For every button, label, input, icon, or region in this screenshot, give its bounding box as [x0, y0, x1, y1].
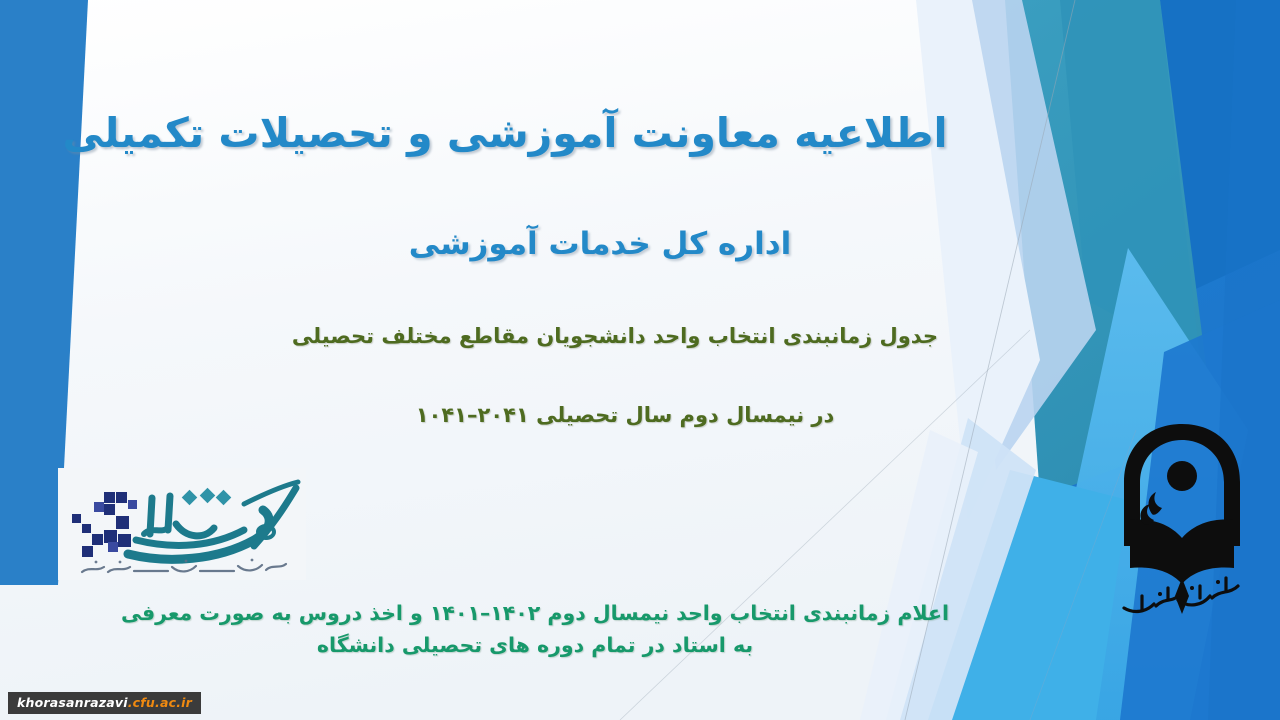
footer-announcement: اعلام زمانبندی انتخاب واحد نیمسال دوم ۱۴… — [0, 598, 1070, 662]
site-url-badge[interactable]: khorasanrazavi.cfu.ac.ir — [8, 692, 201, 714]
footer-line-2: به استاد در تمام دوره های تحصیلی دانشگاه — [0, 630, 1070, 662]
announcement-slide: اطلاعیه معاونت آموزشی و تحصیلات تکمیلی ا… — [0, 0, 1280, 720]
academic-term-line: در نیمسال دوم سال تحصیلی ۱۴۰۲–۱۴۰۱ — [0, 403, 1250, 427]
farhangian-university-logo — [1108, 418, 1256, 624]
golestan-logo — [58, 468, 306, 580]
url-host: khorasanrazavi — [17, 695, 128, 710]
schedule-heading: جدول زمانبندی انتخاب واحد دانشجویان مقاط… — [0, 324, 1230, 348]
page-title: اطلاعیه معاونت آموزشی و تحصیلات تکمیلی — [0, 108, 1010, 159]
url-domain: .cfu.ac.ir — [128, 695, 192, 710]
footer-line-1: اعلام زمانبندی انتخاب واحد نیمسال دوم ۱۴… — [0, 598, 1070, 630]
page-subtitle: اداره کل خدمات آموزشی — [0, 226, 1200, 262]
